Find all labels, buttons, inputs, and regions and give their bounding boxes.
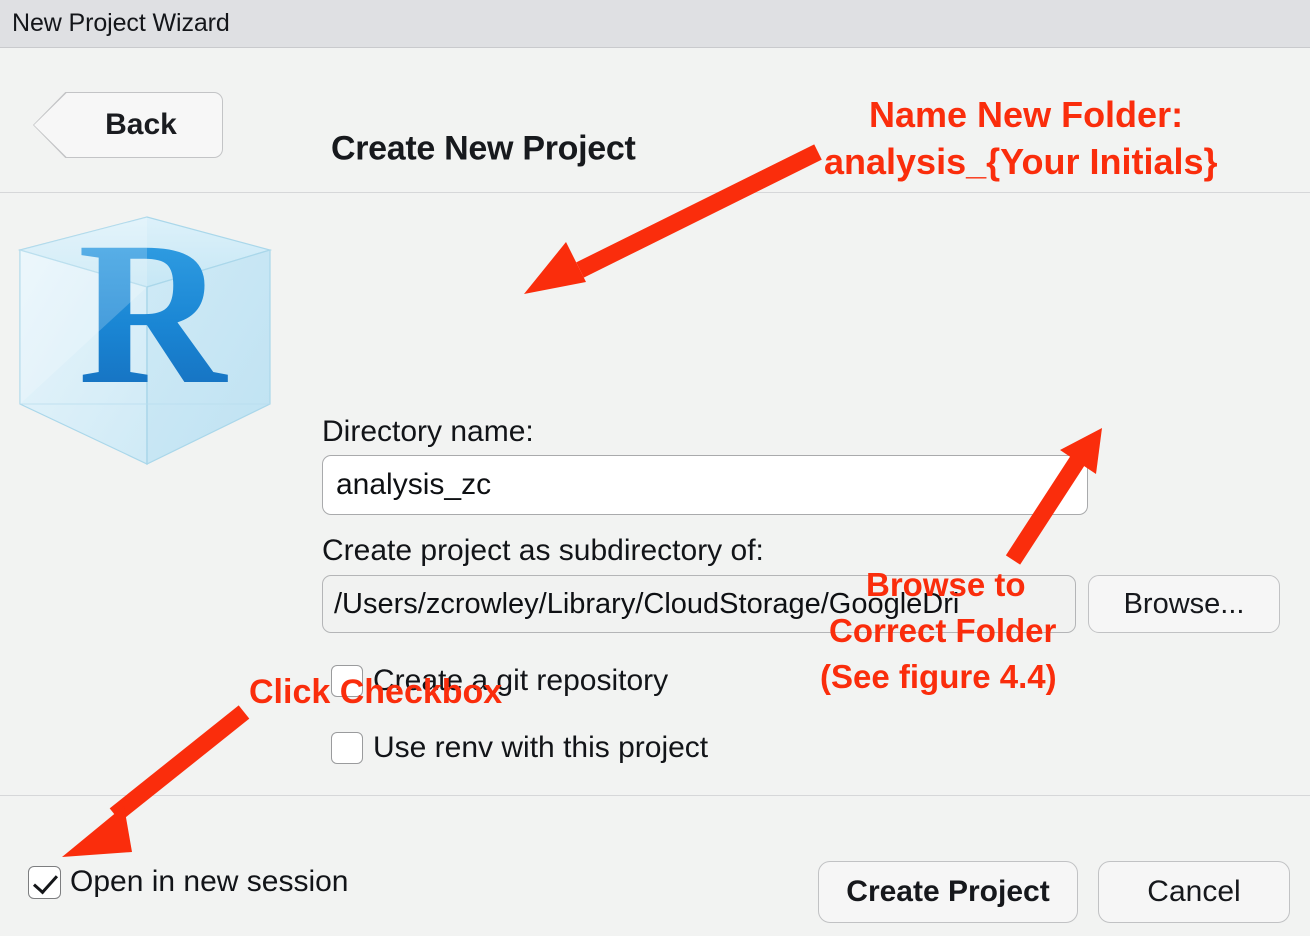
window-titlebar: New Project Wizard [0,0,1310,48]
browse-button[interactable]: Browse... [1088,575,1280,633]
back-button-label: Back [33,92,223,158]
r-glass-cube-logo: R R [12,212,302,512]
page-title: Create New Project [331,130,636,169]
back-button[interactable]: Back [33,92,223,158]
subdirectory-label: Create project as subdirectory of: [322,534,764,568]
new-project-wizard-window: New Project Wizard Back Create New Proje… [0,0,1310,936]
cancel-button[interactable]: Cancel [1098,861,1290,923]
open-in-new-session-checkbox[interactable] [28,866,61,899]
open-in-new-session-label: Open in new session [70,865,349,899]
use-renv-checkbox-row[interactable]: Use renv with this project [331,731,708,765]
create-git-repository-checkbox-row[interactable]: Create a git repository [331,664,668,698]
wizard-header: Back Create New Project [0,49,1310,193]
open-in-new-session-row[interactable]: Open in new session [28,865,349,899]
create-git-repository-label: Create a git repository [373,664,668,698]
window-title: New Project Wizard [0,9,230,38]
create-project-button[interactable]: Create Project [818,861,1078,923]
create-git-repository-checkbox[interactable] [331,665,363,697]
subdirectory-path-input[interactable] [322,575,1076,633]
wizard-body: R R Directory name: Create project as su… [0,194,1310,796]
use-renv-checkbox[interactable] [331,732,363,764]
directory-name-input[interactable] [322,455,1088,515]
use-renv-label: Use renv with this project [373,731,708,765]
directory-name-label: Directory name: [322,415,534,449]
